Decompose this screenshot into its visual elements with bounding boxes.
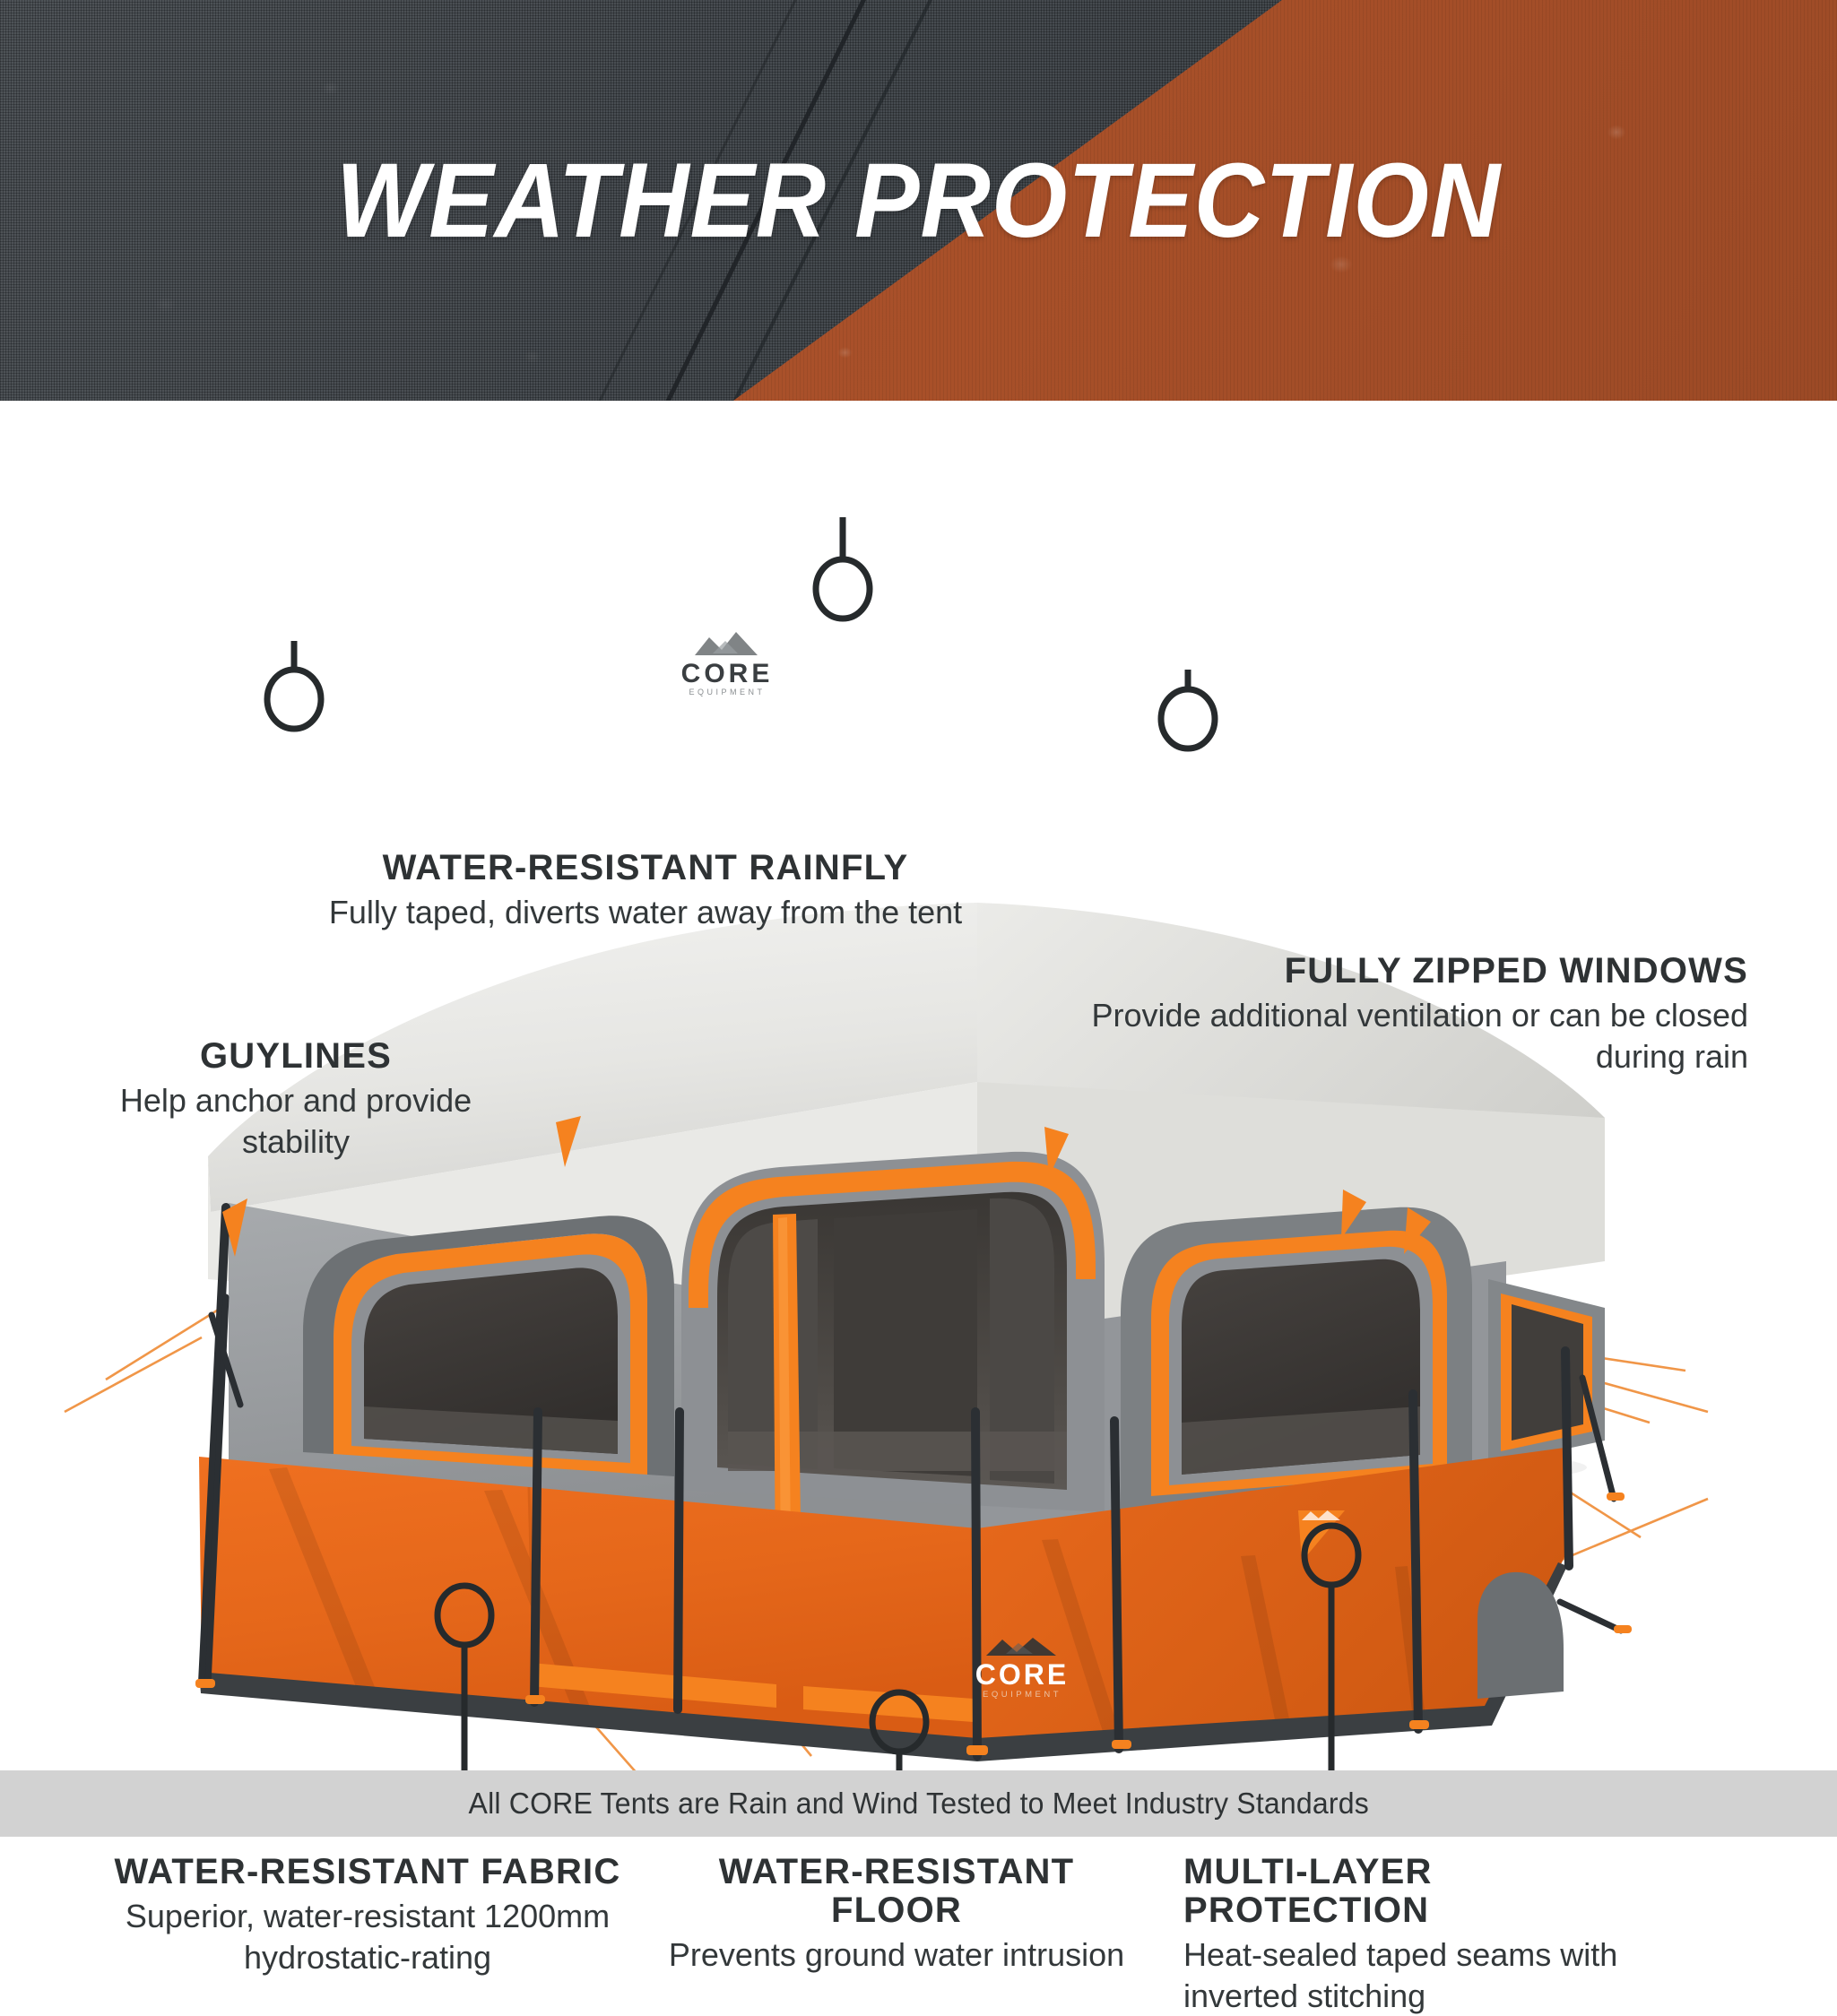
- stake-anchor: [1614, 1625, 1632, 1633]
- tent-pole: [1413, 1394, 1418, 1729]
- tent-pole: [678, 1412, 680, 1709]
- corner-vestibule-flap: [1477, 1572, 1564, 1699]
- brand-logo-text: CORE: [975, 1658, 1069, 1691]
- callout-guylines: GUYLINES Help anchor and provide stabili…: [90, 1037, 502, 1162]
- tent-pole: [1565, 1351, 1569, 1566]
- callout-desc-rainfly: Fully taped, diverts water away from the…: [296, 892, 995, 932]
- callout-floor: WATER-RESISTANT FLOOR Prevents ground wa…: [654, 1853, 1139, 1976]
- callout-marker-windows: [1161, 689, 1215, 748]
- tent-pole: [975, 1412, 977, 1756]
- guyline-cord: [65, 1337, 202, 1412]
- header-banner: WEATHER PROTECTION: [0, 0, 1837, 401]
- window-far-right-mesh[interactable]: [1512, 1304, 1583, 1441]
- callout-title-rainfly: WATER-RESISTANT RAINFLY: [296, 849, 995, 887]
- callout-desc-fabric: Superior, water-resistant 1200mm hydrost…: [90, 1896, 646, 1977]
- footer-text: All CORE Tents are Rain and Wind Tested …: [468, 1787, 1368, 1821]
- callout-title-guylines: GUYLINES: [90, 1037, 502, 1076]
- callout-title-fabric: WATER-RESISTANT FABRIC: [90, 1853, 646, 1891]
- stake-anchor: [1409, 1720, 1429, 1729]
- callout-multi-layer: MULTI-LAYER PROTECTION Heat-sealed taped…: [1183, 1853, 1685, 2016]
- guy-pole: [1560, 1602, 1621, 1631]
- page-title: WEATHER PROTECTION: [74, 0, 1763, 401]
- brand-logo-text: CORE: [681, 659, 774, 688]
- brand-logo-rainfly: CORE EQUIPMENT: [681, 632, 774, 697]
- callout-fabric: WATER-RESISTANT FABRIC Superior, water-r…: [90, 1853, 646, 1977]
- callout-marker-rainfly: [816, 559, 870, 619]
- callout-title-floor: WATER-RESISTANT FLOOR: [654, 1853, 1139, 1930]
- callout-desc-windows: Provide additional ventilation or can be…: [1067, 995, 1748, 1077]
- callout-title-windows: FULLY ZIPPED WINDOWS: [1067, 952, 1748, 991]
- brand-logo-subtext: EQUIPMENT: [983, 1690, 1061, 1700]
- stake-anchor: [1607, 1493, 1625, 1501]
- footer-band: All CORE Tents are Rain and Wind Tested …: [0, 1770, 1837, 1837]
- callout-windows: FULLY ZIPPED WINDOWS Provide additional …: [1067, 952, 1748, 1077]
- callout-desc-guylines: Help anchor and provide stability: [90, 1080, 502, 1162]
- guyline-cord: [106, 1306, 224, 1380]
- tent-pole: [1114, 1421, 1119, 1749]
- stake-anchor: [966, 1745, 988, 1755]
- callout-desc-multi-layer: Heat-sealed taped seams with inverted st…: [1183, 1934, 1685, 2016]
- product-illustration-area: CORE EQUIPMENT CORE EQUIPMENT: [0, 401, 1837, 1837]
- tent-pole: [534, 1412, 538, 1702]
- stake-anchor: [1112, 1740, 1131, 1749]
- stake-anchor: [195, 1679, 215, 1688]
- brand-logo-subtext: EQUIPMENT: [689, 688, 765, 697]
- callout-marker-guylines: [267, 670, 321, 729]
- callout-desc-floor: Prevents ground water intrusion: [654, 1934, 1139, 1975]
- callout-title-multi-layer: MULTI-LAYER PROTECTION: [1183, 1853, 1685, 1930]
- callout-rainfly: WATER-RESISTANT RAINFLY Fully taped, div…: [296, 849, 995, 933]
- stake-anchor: [525, 1695, 545, 1704]
